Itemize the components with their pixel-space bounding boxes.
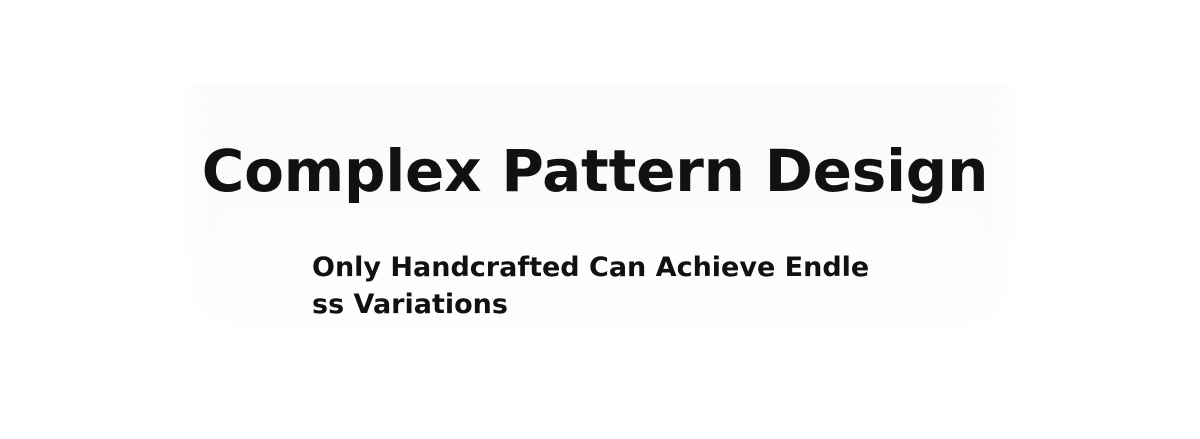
slide-title: Complex Pattern Design	[0, 142, 1190, 200]
slide-subtitle: Only Handcrafted Can Achieve Endless Var…	[312, 249, 878, 323]
slide-canvas: Complex Pattern Design Only Handcrafted …	[0, 0, 1200, 439]
